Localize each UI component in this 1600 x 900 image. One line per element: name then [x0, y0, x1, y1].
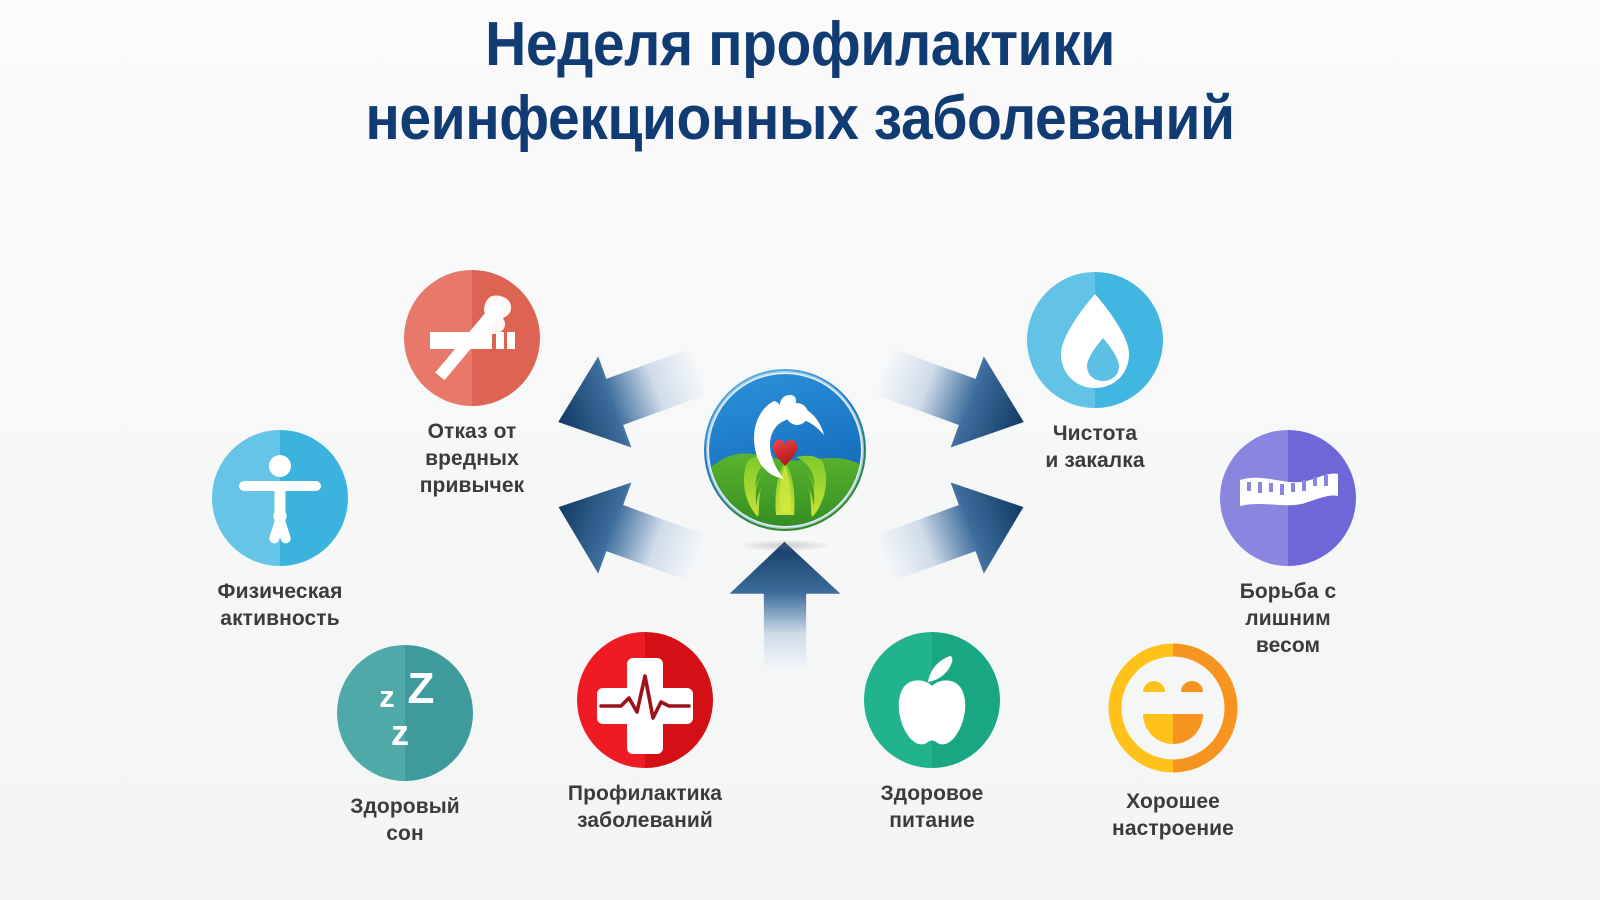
- label-line: активность: [150, 605, 410, 632]
- weight-control-badge: [1220, 430, 1356, 566]
- label-line: весом: [1158, 632, 1418, 659]
- label-line: Борьба с: [1158, 578, 1418, 605]
- svg-text:z: z: [379, 679, 395, 714]
- center-logo-shadow: [742, 540, 828, 551]
- disease-prevention-badge: [577, 632, 713, 768]
- good-mood-badge: [1105, 640, 1241, 776]
- title-line-1: Неделя профилактики: [64, 8, 1536, 82]
- zzz-sleep-icon: Z z z: [337, 645, 473, 781]
- label-line: питание: [802, 807, 1062, 834]
- cleanliness-hardening-badge: [1027, 272, 1163, 408]
- healthy-sleep-badge: Z z z: [337, 645, 473, 781]
- node-healthy-nutrition[interactable]: Здоровое питание: [802, 632, 1062, 834]
- water-drop-icon: [1027, 272, 1163, 408]
- svg-text:Z: Z: [408, 664, 435, 713]
- label-line: и закалка: [965, 447, 1225, 474]
- label-line: Здоровый: [275, 793, 535, 820]
- no-smoking-icon: [404, 270, 540, 406]
- physical-activity-badge: [212, 430, 348, 566]
- healthy-nutrition-badge: [864, 632, 1000, 768]
- no-bad-habits-badge: [404, 270, 540, 406]
- node-cleanliness-hardening[interactable]: Чистота и закалка: [965, 272, 1225, 474]
- page-title: Неделя профилактики неинфекционных забол…: [0, 8, 1600, 156]
- label-line: Отказ от: [342, 418, 602, 445]
- label-line: лишним: [1158, 605, 1418, 632]
- node-no-bad-habits[interactable]: Отказ от вредных привычек: [342, 270, 602, 499]
- node-disease-prevention[interactable]: Профилактика заболеваний: [515, 632, 775, 834]
- label-line: привычек: [342, 472, 602, 499]
- label-line: Профилактика: [515, 780, 775, 807]
- apple-icon: [864, 632, 1000, 768]
- node-label: Здоровый сон: [275, 793, 535, 847]
- node-label: Отказ от вредных привычек: [342, 418, 602, 499]
- arrow-down-right-icon: [867, 458, 1044, 608]
- medical-cross-ecg-icon: [577, 632, 713, 768]
- label-line: Хорошее: [1043, 788, 1303, 815]
- smiley-face-icon: [1105, 640, 1241, 776]
- label-line: Здоровое: [802, 780, 1062, 807]
- node-label: Борьба с лишним весом: [1158, 578, 1418, 659]
- label-line: заболеваний: [515, 807, 775, 834]
- measuring-tape-icon: [1220, 430, 1356, 566]
- label-line: Чистота: [965, 420, 1225, 447]
- node-label: Профилактика заболеваний: [515, 780, 775, 834]
- node-good-mood[interactable]: Хорошее настроение: [1043, 640, 1303, 842]
- node-label: Чистота и закалка: [965, 420, 1225, 474]
- node-label: Здоровое питание: [802, 780, 1062, 834]
- person-standing-icon: [212, 430, 348, 566]
- label-line: настроение: [1043, 815, 1303, 842]
- node-label: Физическая активность: [150, 578, 410, 632]
- node-healthy-sleep[interactable]: Z z z Здоровый сон: [275, 645, 535, 847]
- title-line-2: неинфекционных заболеваний: [64, 82, 1536, 156]
- infographic-canvas: Неделя профилактики неинфекционных забол…: [0, 0, 1600, 900]
- label-line: сон: [275, 820, 535, 847]
- label-line: вредных: [342, 445, 602, 472]
- label-line: Физическая: [150, 578, 410, 605]
- center-logo: [700, 365, 870, 535]
- node-label: Хорошее настроение: [1043, 788, 1303, 842]
- svg-text:z: z: [391, 712, 409, 753]
